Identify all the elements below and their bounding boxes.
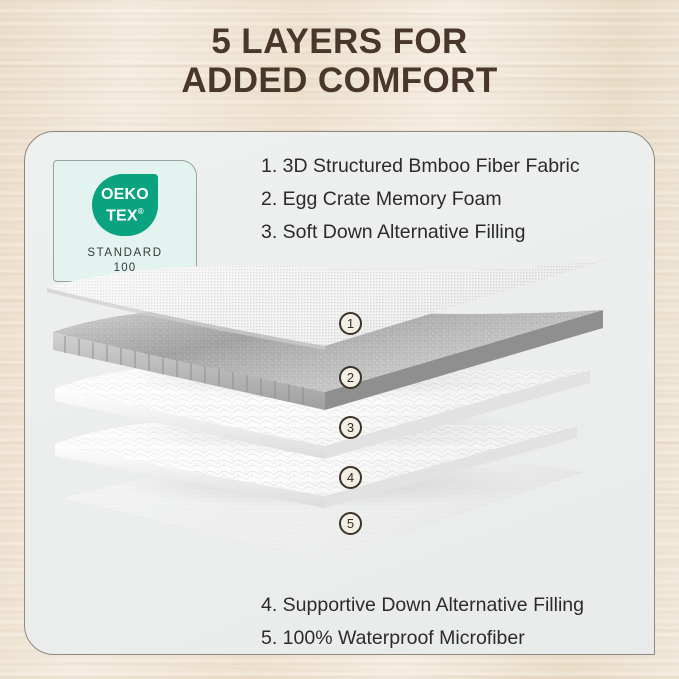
layer-marker-1: 1 (339, 312, 362, 335)
layer-marker-3: 3 (339, 416, 362, 439)
page-title: 5 Layers for Added Comfort (0, 22, 679, 100)
oeko-tex-logo-line-1: OEKO (101, 186, 149, 203)
layer-list-top: 1. 3D Structured Bmboo Fiber Fabric 2. E… (261, 150, 580, 249)
list-item: 4. Supportive Down Alternative Filling (261, 589, 584, 622)
list-item: 1. 3D Structured Bmboo Fiber Fabric (261, 150, 580, 183)
layer-stack-illustration (25, 260, 655, 560)
oeko-tex-droplet-icon: OEKO TEX® (92, 174, 158, 236)
layer-marker-4: 4 (339, 466, 362, 489)
layer-marker-5: 5 (339, 512, 362, 535)
list-item: 5. 100% Waterproof Microfiber (261, 622, 584, 655)
list-item: 2. Egg Crate Memory Foam (261, 183, 580, 216)
layer-list-bottom: 4. Supportive Down Alternative Filling 5… (261, 589, 584, 655)
info-panel: OEKO TEX® STANDARD 100 1. 3D Structured … (24, 131, 655, 655)
oeko-tex-logo-line-2: TEX® (106, 203, 144, 224)
list-item: 3. Soft Down Alternative Filling (261, 216, 580, 249)
layer-marker-2: 2 (339, 366, 362, 389)
standard-label: STANDARD (87, 246, 162, 261)
